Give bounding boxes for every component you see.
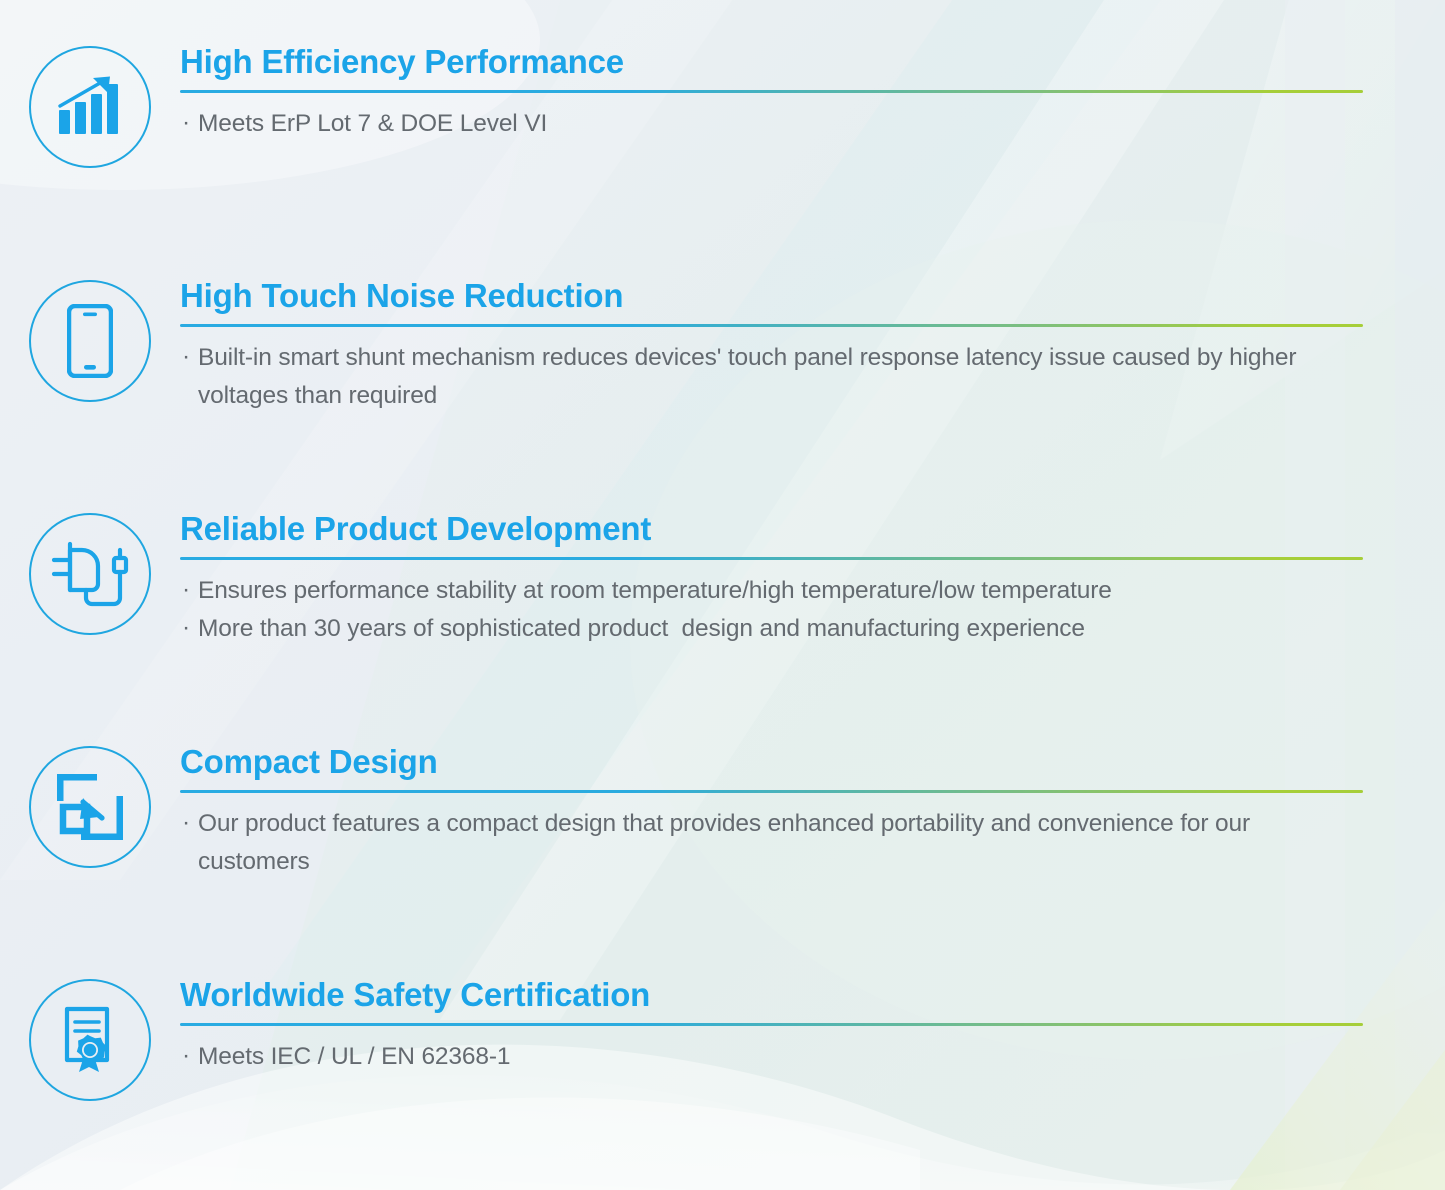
bullet-item: Built-in smart shunt mechanism reduces d…: [180, 339, 1363, 415]
bullet-item: Ensures performance stability at room te…: [180, 572, 1363, 610]
feature-item-high-efficiency-performance: High Efficiency Performance Meets ErP Lo…: [0, 44, 1445, 168]
feature-icon-wrapper: [0, 977, 180, 1101]
bullet-item: Our product features a compact design th…: [180, 805, 1363, 881]
feature-bullets: Built-in smart shunt mechanism reduces d…: [180, 339, 1363, 415]
feature-item-worldwide-safety-certification: Worldwide Safety Certification Meets IEC…: [0, 977, 1445, 1101]
bullet-item: Meets ErP Lot 7 & DOE Level VI: [180, 105, 1363, 143]
feature-icon-wrapper: [0, 44, 180, 168]
feature-bullets: Meets ErP Lot 7 & DOE Level VI: [180, 105, 1363, 143]
feature-item-compact-design: Compact Design Our product features a co…: [0, 744, 1445, 881]
icon-circle: [29, 979, 151, 1101]
feature-divider: [180, 790, 1363, 793]
feature-icon-wrapper: [0, 744, 180, 868]
feature-bullets: Our product features a compact design th…: [180, 805, 1363, 881]
power-adapter-icon: [50, 538, 130, 610]
feature-title: Compact Design: [180, 744, 1363, 781]
feature-content: Worldwide Safety Certification Meets IEC…: [180, 977, 1445, 1076]
feature-divider: [180, 324, 1363, 327]
feature-content: High Touch Noise Reduction Built-in smar…: [180, 278, 1445, 415]
feature-icon-wrapper: [0, 511, 180, 635]
icon-circle: [29, 280, 151, 402]
feature-title: High Efficiency Performance: [180, 44, 1363, 81]
feature-bullets: Ensures performance stability at room te…: [180, 572, 1363, 648]
feature-title: High Touch Noise Reduction: [180, 278, 1363, 315]
icon-circle: [29, 746, 151, 868]
feature-content: Reliable Product Development Ensures per…: [180, 511, 1445, 648]
smartphone-icon: [67, 304, 113, 378]
feature-divider: [180, 1023, 1363, 1026]
certificate-seal-icon: [57, 1004, 123, 1076]
feature-title: Worldwide Safety Certification: [180, 977, 1363, 1014]
feature-content: High Efficiency Performance Meets ErP Lo…: [180, 44, 1445, 143]
feature-item-reliable-product-development: Reliable Product Development Ensures per…: [0, 511, 1445, 648]
icon-circle: [29, 46, 151, 168]
feature-divider: [180, 557, 1363, 560]
feature-title: Reliable Product Development: [180, 511, 1363, 548]
feature-bullets: Meets IEC / UL / EN 62368-1: [180, 1038, 1363, 1076]
bullet-item: More than 30 years of sophisticated prod…: [180, 610, 1363, 648]
feature-divider: [180, 90, 1363, 93]
feature-content: Compact Design Our product features a co…: [180, 744, 1445, 881]
feature-icon-wrapper: [0, 278, 180, 402]
icon-circle: [29, 513, 151, 635]
compact-resize-icon: [57, 774, 123, 840]
bar-chart-growth-icon: [55, 74, 125, 140]
bullet-item: Meets IEC / UL / EN 62368-1: [180, 1038, 1363, 1076]
feature-item-high-touch-noise-reduction: High Touch Noise Reduction Built-in smar…: [0, 278, 1445, 415]
